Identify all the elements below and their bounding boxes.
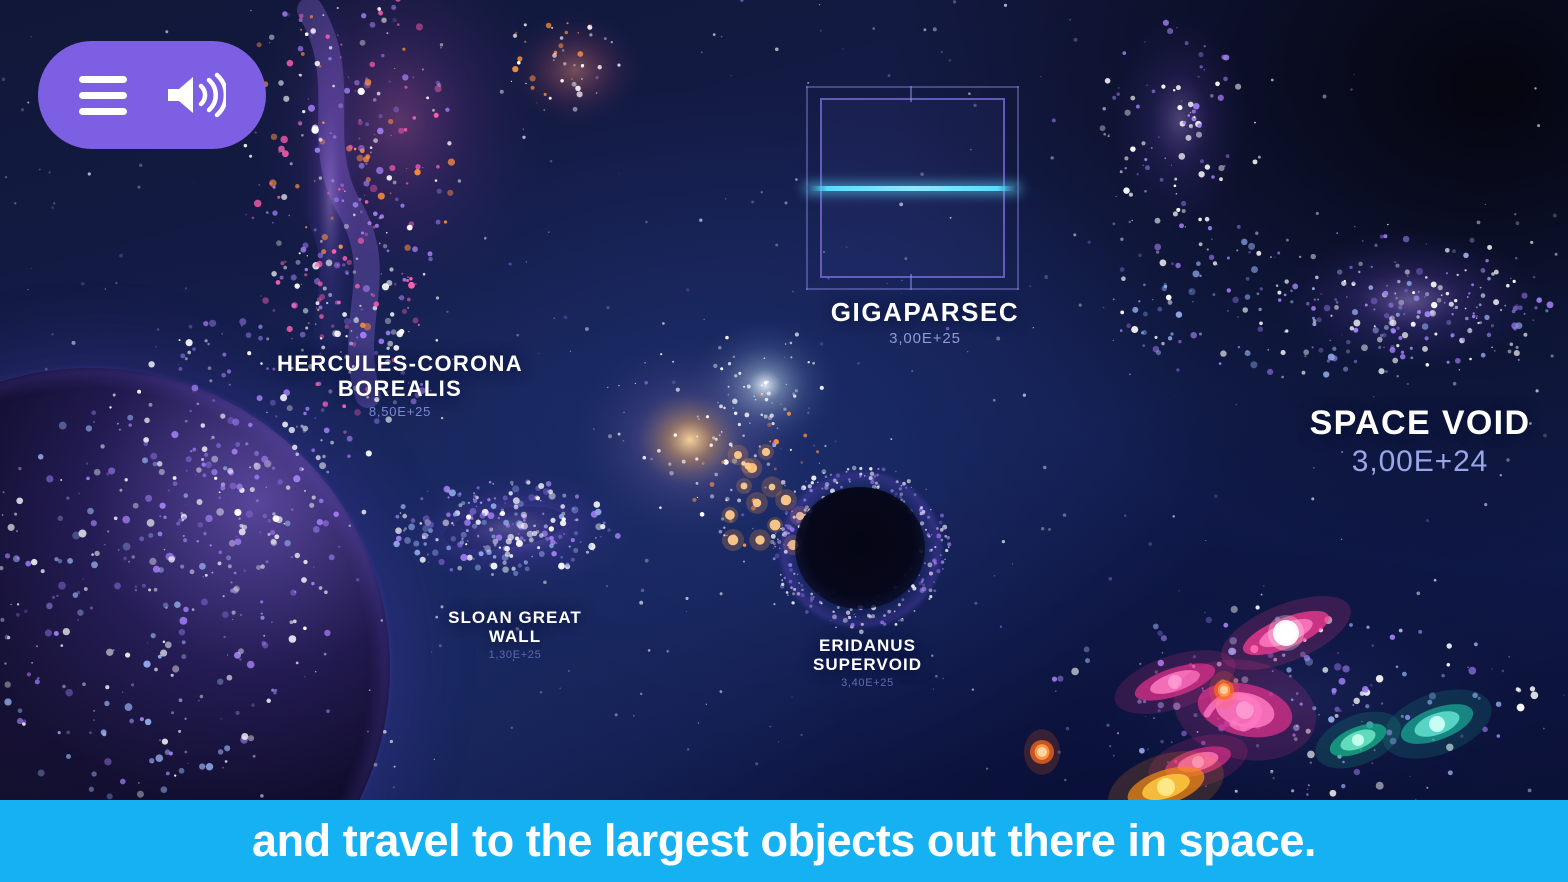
speaker-volume-icon[interactable]	[164, 72, 226, 118]
frame-tick-bottom	[806, 288, 1019, 290]
caption-text: and travel to the largest objects out th…	[252, 815, 1316, 867]
eridanus-void-core	[795, 487, 925, 609]
hud-control-pill[interactable]	[38, 41, 266, 149]
frame-tick-bottom-mid	[910, 274, 912, 290]
app-screen: GIGAPARSEC 3,00E+25 HERCULES-CORONA BORE…	[0, 0, 1568, 882]
caption-bar: and travel to the largest objects out th…	[0, 800, 1568, 882]
gigaparsec-scan-line	[806, 186, 1019, 191]
space-scene: GIGAPARSEC 3,00E+25 HERCULES-CORONA BORE…	[0, 0, 1568, 800]
frame-tick-top-mid	[910, 86, 912, 102]
hamburger-menu-icon[interactable]	[79, 76, 127, 115]
gigaparsec-measure-frame	[820, 98, 1005, 278]
frame-tick-top	[806, 86, 1019, 88]
